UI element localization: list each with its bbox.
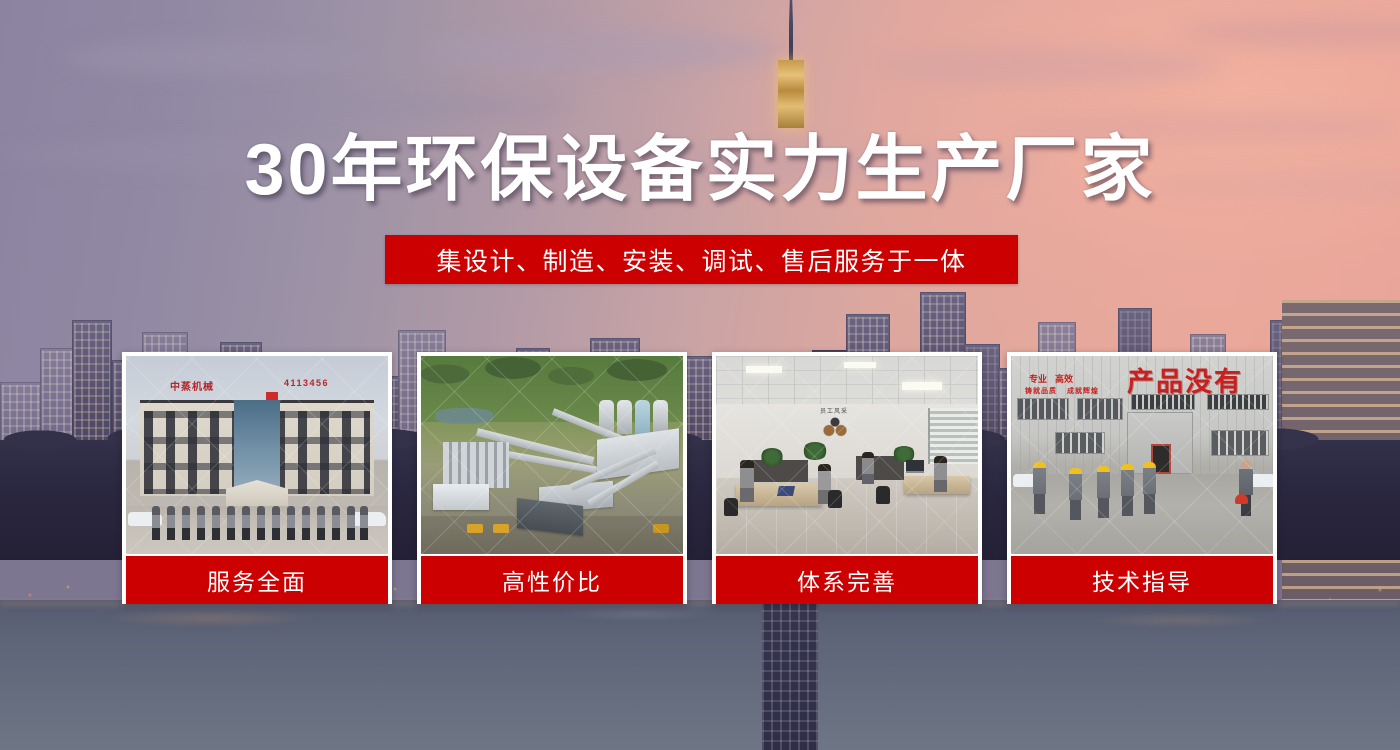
tower-antenna [789, 0, 793, 62]
staff-person [287, 506, 295, 540]
factory-slogan-d: 成就辉煌 [1067, 386, 1099, 396]
cloud [60, 40, 360, 76]
factory-window [1077, 398, 1123, 420]
staff-person [182, 506, 190, 540]
staff-lineup [152, 506, 368, 542]
factory-slogan-b: 高效 [1055, 372, 1073, 385]
factory-slogan-a: 专业 [1029, 372, 1047, 385]
staff-person [152, 506, 160, 540]
staff-person [272, 506, 280, 540]
subtitle-text: 集设计、制造、安装、调试、售后服务于一体 [436, 242, 966, 278]
feature-card[interactable]: 产品没有 专业 高效 铸就品质 成就辉煌 [1007, 352, 1277, 604]
card-photo-office-building: 中蒸机械 4113456 [126, 356, 388, 554]
supervisor [1239, 460, 1253, 516]
ceiling-light [746, 366, 782, 373]
factory-worker [1069, 468, 1082, 518]
card-caption-bar: 服务全面 [126, 556, 388, 604]
excavator [493, 524, 509, 533]
card-caption-text: 服务全面 [207, 563, 307, 597]
red-helmet [1235, 494, 1248, 504]
water-reflections [0, 600, 1400, 750]
card-caption-bar: 体系完善 [716, 556, 978, 604]
process-stacks [443, 442, 509, 488]
office-chair [828, 490, 842, 508]
card-caption-text: 技术指导 [1092, 563, 1192, 597]
feature-card-list: 中蒸机械 4113456 [122, 352, 1277, 604]
banner-stage: 30年环保设备实力生产厂家 集设计、制造、安装、调试、售后服务于一体 中蒸机械 … [0, 0, 1400, 750]
feature-card[interactable]: 中蒸机械 4113456 [122, 352, 392, 604]
storage-silo [617, 400, 632, 434]
office-chair [724, 498, 738, 516]
card-photo-factory-workers: 产品没有 专业 高效 铸就品质 成就辉煌 [1011, 356, 1273, 554]
storage-silo [653, 400, 668, 434]
factory-window [1211, 430, 1269, 456]
cloud [150, 92, 570, 120]
card-caption-bar: 高性价比 [421, 556, 683, 604]
potted-plant [760, 448, 784, 466]
factory-slogan-main: 产品没有 [1127, 360, 1243, 399]
cloud [420, 30, 780, 72]
staff-person [347, 506, 355, 540]
staff-person [242, 506, 250, 540]
staff-person [227, 506, 235, 540]
subtitle-banner: 集设计、制造、安装、调试、售后服务于一体 [385, 235, 1018, 284]
plant-building [433, 484, 489, 510]
office-worker [862, 452, 874, 484]
ceiling-light [844, 362, 876, 368]
staff-person [257, 506, 265, 540]
factory-worker [1033, 462, 1046, 514]
ceiling-light [902, 382, 942, 390]
card-photo-office-interior: 员工风采 [716, 356, 978, 554]
factory-window [1055, 432, 1105, 454]
flag [266, 392, 278, 400]
staff-person [197, 506, 205, 540]
office-worker [934, 456, 947, 492]
excavator [653, 524, 669, 533]
building-phone-number: 4113456 [284, 378, 329, 388]
staff-person [212, 506, 220, 540]
factory-slogan-c: 铸就品质 [1025, 386, 1057, 396]
card-caption-text: 体系完善 [797, 563, 897, 597]
card-caption-bar: 技术指导 [1011, 556, 1273, 604]
tower-lit-crown [778, 60, 804, 128]
laptop [777, 486, 795, 496]
building-company-sign: 中蒸机械 [170, 378, 214, 393]
staff-person [302, 506, 310, 540]
office-chair [876, 486, 890, 504]
factory-yard [1011, 474, 1273, 554]
factory-worker [1143, 462, 1156, 512]
staff-person [317, 506, 325, 540]
factory-worker [1121, 464, 1134, 514]
pond [435, 408, 493, 424]
potted-plant [802, 442, 828, 460]
office-worker [740, 460, 754, 502]
factory-window [1017, 398, 1069, 420]
card-photo-industrial-plant [421, 356, 683, 554]
staff-person [332, 506, 340, 540]
feature-card[interactable]: 高性价比 [417, 352, 687, 604]
excavator [467, 524, 483, 533]
card-caption-text: 高性价比 [502, 563, 602, 597]
computer-monitor [906, 460, 924, 473]
staff-person [360, 506, 368, 540]
wall-decal-graphic [816, 412, 854, 440]
factory-worker [1097, 466, 1110, 516]
storage-silo [635, 400, 650, 434]
page-title: 30年环保设备实力生产厂家 [0, 133, 1400, 208]
staff-person [167, 506, 175, 540]
cloud [880, 46, 1220, 86]
feature-card[interactable]: 员工风采 体系 [712, 352, 982, 604]
